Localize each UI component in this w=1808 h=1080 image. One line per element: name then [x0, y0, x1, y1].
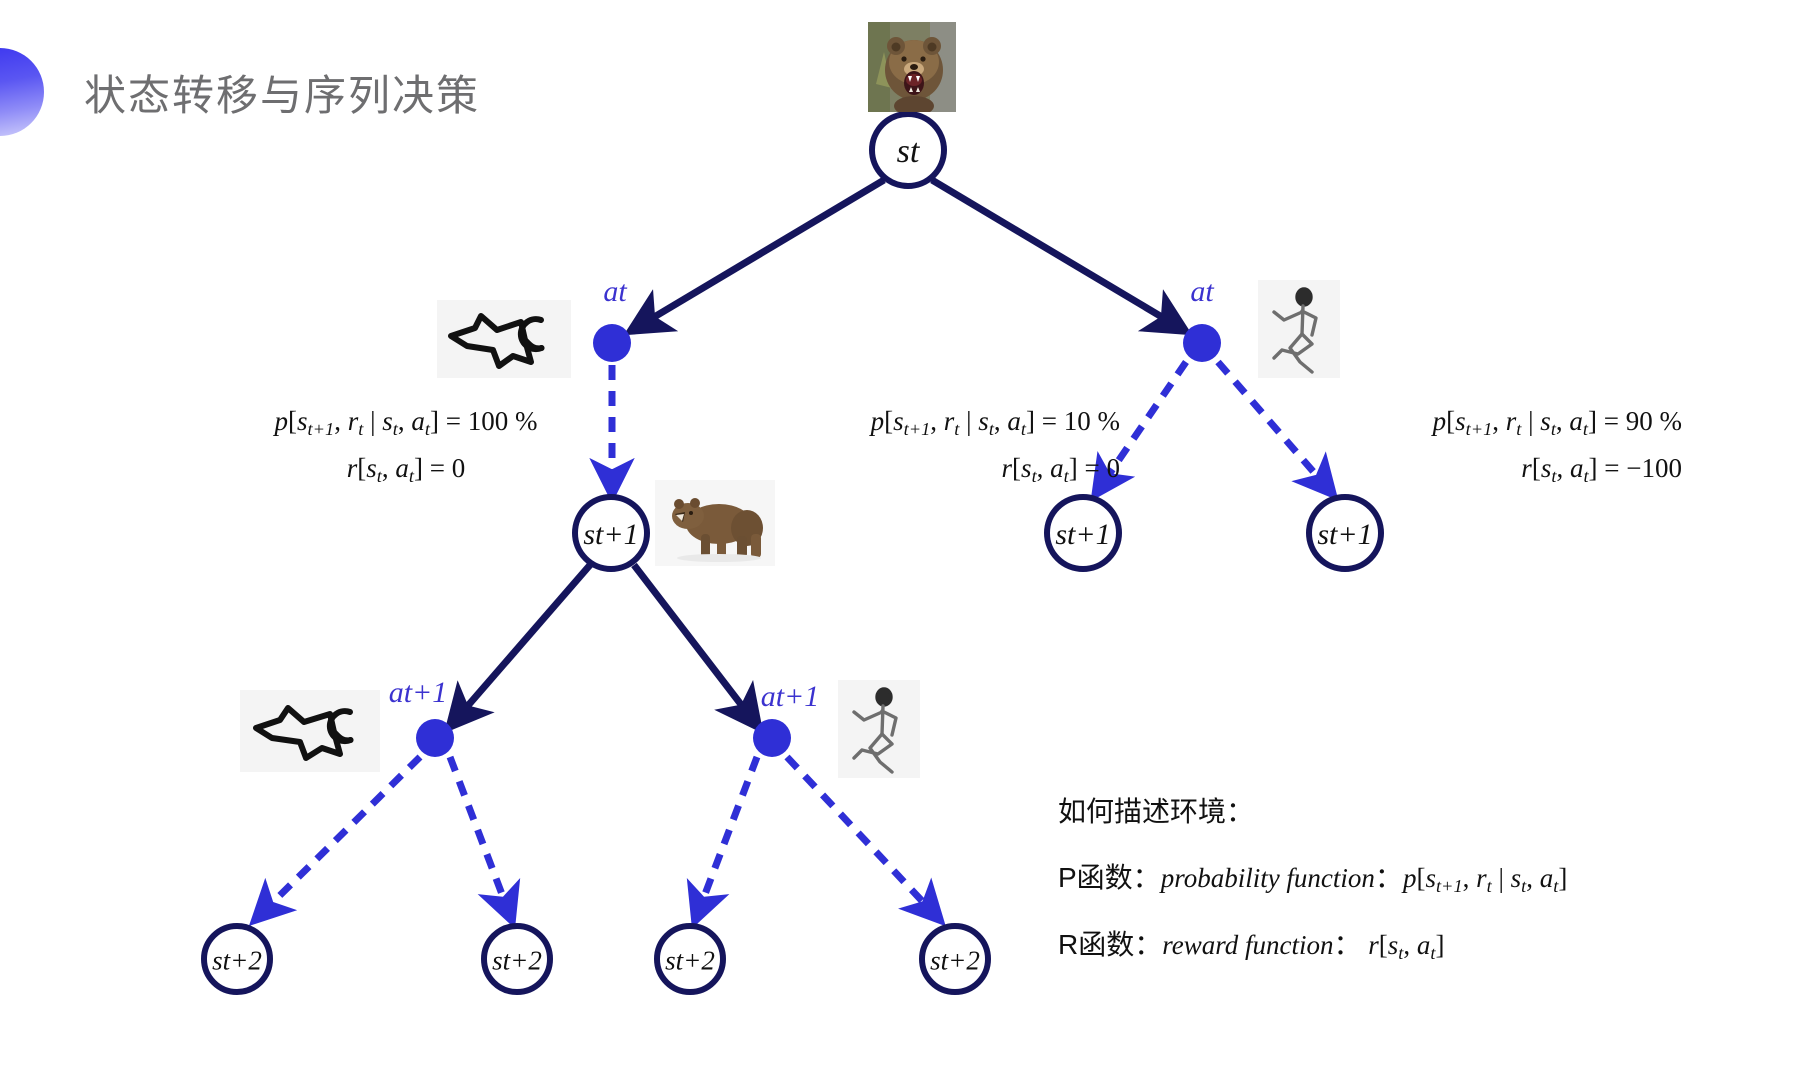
formula-probability-right: p[st+1, rt | st, at] = 90 %: [1312, 398, 1682, 445]
formula-reward-middle: r[st, at] = 0: [760, 445, 1120, 492]
state-node-s-t2-1[interactable]: [204, 926, 270, 992]
edge-action2-right-to-leaf3: [696, 757, 757, 918]
bear-standing-photo: [655, 480, 775, 566]
legend-r-function-formula: r[st, at]: [1362, 930, 1445, 960]
formula-block-middle-branch: p[st+1, rt | st, at] = 10 % r[st, at] = …: [760, 398, 1120, 493]
edge-root-to-action-left: [634, 180, 884, 329]
formula-reward-left: r[st, at] = 0: [226, 445, 586, 492]
state-node-s-t2-4[interactable]: [922, 926, 988, 992]
legend-r-separator: ：: [1333, 929, 1361, 960]
action-node-a-t1-right[interactable]: [753, 719, 791, 757]
edge-action2-left-to-leaf2: [450, 757, 511, 918]
play-dead-figure-icon: [240, 690, 380, 772]
formula-probability-middle: p[st+1, rt | st, at] = 10 %: [760, 398, 1120, 445]
legend-p-function-name: P函数：: [1058, 862, 1161, 893]
action-node-a-t-right[interactable]: [1183, 324, 1221, 362]
formula-probability-left: p[st+1, rt | st, at] = 100 %: [226, 398, 586, 445]
state-node-s-t2-3[interactable]: [657, 926, 723, 992]
bear-roaring-image: [868, 22, 956, 112]
edge-state1-to-action-right: [634, 565, 756, 724]
running-person-icon-2: [838, 680, 920, 778]
formula-block-left-branch: p[st+1, rt | st, at] = 100 % r[st, at] =…: [226, 398, 586, 493]
state-node-s-t1-right[interactable]: [1309, 497, 1381, 569]
play-dead-icon-1: [437, 300, 571, 378]
legend-p-separator: ：: [1375, 862, 1403, 893]
edge-action2-right-to-leaf4: [787, 757, 938, 918]
action-node-a-t-left[interactable]: [593, 324, 631, 362]
running-person-figure-icon: [838, 680, 920, 778]
edge-action2-left-to-leaf1: [257, 757, 420, 918]
state-node-root[interactable]: [872, 114, 944, 186]
state-node-s-t2-2[interactable]: [484, 926, 550, 992]
legend-panel: 如何描述环境： P函数：probability function：p[st+1,…: [1058, 790, 1567, 990]
legend-title: 如何描述环境：: [1058, 790, 1567, 830]
action-node-a-t1-left[interactable]: [416, 719, 454, 757]
edge-root-to-action-right: [932, 180, 1182, 329]
running-person-icon-1: [1258, 280, 1340, 378]
state-node-s-t1-mid[interactable]: [1047, 497, 1119, 569]
play-dead-icon-2: [240, 690, 380, 772]
formula-block-right-branch: p[st+1, rt | st, at] = 90 % r[st, at] = …: [1312, 398, 1682, 493]
legend-p-function-formula: p[st+1, rt | st, at]: [1403, 863, 1567, 893]
bear-roaring-photo: [868, 22, 956, 112]
legend-row-p-function: P函数：probability function：p[st+1, rt | st…: [1058, 856, 1567, 897]
legend-p-function-english: probability function: [1161, 863, 1375, 893]
formula-reward-right: r[st, at] = −100: [1312, 445, 1682, 492]
legend-r-function-name: R函数：: [1058, 929, 1162, 960]
legend-r-function-english: reward function: [1162, 930, 1333, 960]
legend-row-r-function: R函数：reward function： r[st, at]: [1058, 923, 1567, 964]
play-dead-figure-icon: [437, 300, 571, 378]
state-node-s-t1-left[interactable]: [575, 497, 647, 569]
edge-state1-to-action-left: [452, 565, 590, 724]
running-person-figure-icon: [1258, 280, 1340, 378]
bear-standing-image: [655, 480, 775, 566]
